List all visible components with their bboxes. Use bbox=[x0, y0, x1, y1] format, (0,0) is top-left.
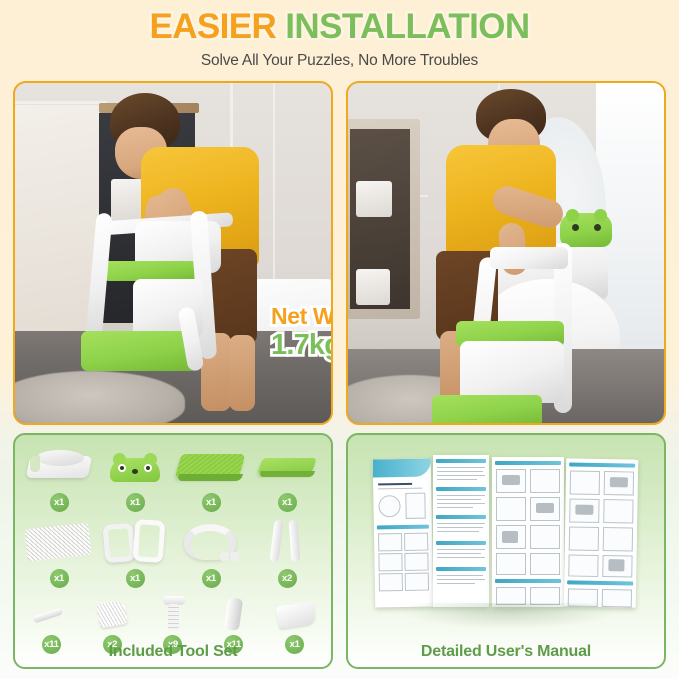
seat-ring-front bbox=[490, 247, 568, 269]
shape bbox=[168, 604, 179, 630]
qty-badge: x1 bbox=[50, 493, 69, 512]
tool-row: x1 x1 bbox=[21, 442, 325, 512]
frog-ear-right bbox=[594, 209, 607, 222]
qty-badge: x1 bbox=[278, 493, 297, 512]
user-manual-panel: Detailed User's Manual bbox=[346, 433, 666, 669]
page-subtitle: Solve All Your Puzzles, No More Troubles bbox=[0, 52, 679, 70]
shape bbox=[220, 552, 229, 561]
toilet-paper-roll bbox=[111, 179, 143, 223]
net-weight-kg: 1.7kg bbox=[271, 329, 333, 361]
mesh-strap-art bbox=[24, 516, 94, 566]
tool-item-mesh-strap: x1 bbox=[23, 516, 95, 588]
manual-steps-page-2 bbox=[564, 458, 639, 607]
frog-backrest-art bbox=[100, 442, 170, 490]
qty-badge: x1 bbox=[50, 569, 69, 588]
shape bbox=[224, 597, 243, 631]
sleeve-spacer-art bbox=[206, 594, 262, 632]
tool-set-caption: Included Tool Set bbox=[15, 643, 331, 661]
qty-badge: x1 bbox=[126, 569, 145, 588]
tool-item-ladder-side-frames: x1 bbox=[99, 516, 171, 588]
tool-item-seat-base-frame: x1 bbox=[23, 442, 95, 512]
net-weight-value-row: 1.7kg(3.75lb) bbox=[271, 331, 333, 360]
tool-item-support-rails: x2 bbox=[251, 516, 323, 588]
net-weight-label: Net Weight bbox=[271, 305, 333, 328]
support-rails-art bbox=[252, 516, 322, 566]
step-pad-large-art bbox=[176, 442, 246, 490]
frog-eye-left bbox=[572, 224, 579, 231]
seat-base-frame-art bbox=[24, 442, 94, 490]
shape bbox=[132, 469, 138, 474]
shape bbox=[289, 520, 301, 563]
title-word-easier: EASIER bbox=[149, 7, 285, 46]
bolt-screw-art bbox=[145, 594, 201, 632]
header: EASIER INSTALLATION Solve All Your Puzzl… bbox=[0, 0, 679, 70]
shape bbox=[275, 601, 316, 628]
cover-cap-art bbox=[267, 594, 323, 632]
pin-rod-art bbox=[23, 594, 79, 632]
shape bbox=[133, 519, 166, 563]
tool-item-step-pad-small: x1 bbox=[251, 442, 323, 512]
photo-row: Net Weight 1.7kg(3.75lb) bbox=[13, 81, 666, 425]
shape bbox=[33, 608, 64, 624]
boy-leg-right bbox=[229, 335, 255, 411]
product-green-step-lower bbox=[81, 331, 197, 371]
qty-badge: x1 bbox=[126, 493, 145, 512]
ladder-side-frames-art bbox=[100, 516, 170, 566]
shape bbox=[259, 471, 315, 477]
net-weight-badge: Net Weight 1.7kg(3.75lb) bbox=[271, 305, 333, 360]
frog-eye-right bbox=[594, 224, 601, 231]
qty-badge: x1 bbox=[202, 493, 221, 512]
frog-ear-left bbox=[566, 209, 579, 222]
shape bbox=[177, 474, 243, 481]
bottom-row: x1 x1 bbox=[13, 433, 666, 669]
product-green-step-upper bbox=[103, 261, 197, 281]
step-pad-small-art bbox=[252, 442, 322, 490]
manual-sheet-art bbox=[374, 453, 642, 613]
page-title: EASIER INSTALLATION bbox=[0, 7, 679, 47]
shape bbox=[102, 523, 135, 563]
shape bbox=[30, 454, 40, 472]
shape bbox=[96, 600, 128, 628]
shape bbox=[120, 466, 124, 470]
photo-boy-carrying-folded-seat: Net Weight 1.7kg(3.75lb) bbox=[13, 81, 333, 425]
qty-badge: x1 bbox=[202, 569, 221, 588]
shape bbox=[25, 523, 92, 562]
manual-drop-shadow bbox=[404, 603, 614, 629]
u-shaped-seat-ring-art bbox=[176, 516, 246, 566]
ladder-brace bbox=[460, 341, 564, 403]
manual-cover-page bbox=[373, 459, 434, 608]
shape bbox=[269, 520, 283, 563]
toilet-paper-roll bbox=[356, 181, 392, 217]
tool-item-step-pad-large: x1 bbox=[175, 442, 247, 512]
shape bbox=[36, 450, 84, 466]
shape bbox=[230, 552, 239, 561]
qty-badge: x2 bbox=[278, 569, 297, 588]
tool-grid: x1 x1 bbox=[15, 435, 331, 667]
toilet-paper-roll bbox=[356, 269, 390, 305]
washer-plate-art bbox=[84, 594, 140, 632]
manual-steps-page-1 bbox=[492, 457, 564, 607]
tool-item-frog-backrest: x1 bbox=[99, 442, 171, 512]
included-tool-set-panel: x1 x1 bbox=[13, 433, 333, 669]
photo-boy-installing-seat bbox=[346, 81, 666, 425]
manual-text-page bbox=[433, 455, 489, 607]
manual-cover-banner bbox=[373, 459, 431, 478]
green-step-lower bbox=[432, 395, 542, 425]
shape bbox=[146, 466, 150, 470]
title-word-installation: INSTALLATION bbox=[285, 7, 529, 46]
tool-item-u-shaped-seat-ring: x1 bbox=[175, 516, 247, 588]
user-manual-caption: Detailed User's Manual bbox=[348, 643, 664, 661]
tile-seam bbox=[15, 101, 107, 104]
tool-row: x1 x1 x1 bbox=[21, 516, 325, 588]
